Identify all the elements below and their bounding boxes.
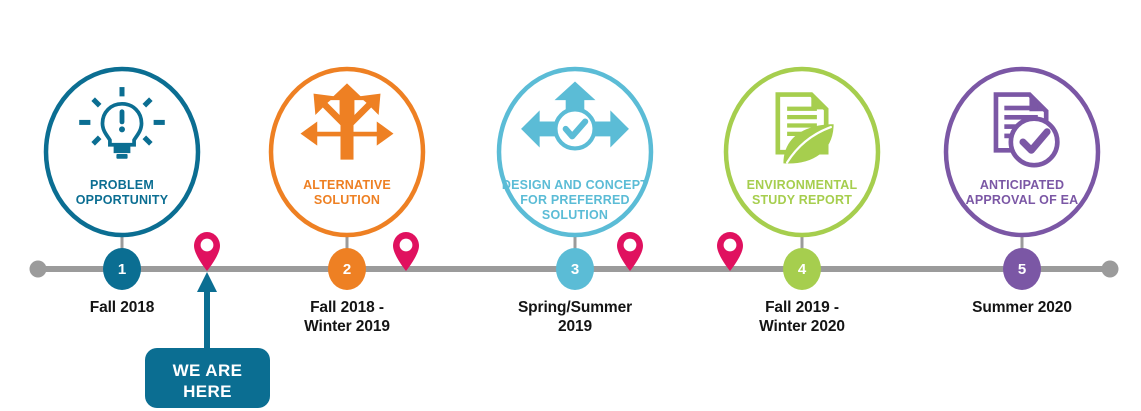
milestone-number-5: 5 [1002,262,1042,277]
consultation-pin-3[interactable] [617,232,643,271]
milestone-date-2: Fall 2018 -Winter 2019 [257,298,437,336]
consultation-pins-group [194,232,743,271]
we-are-here-label: WE ARE HERE [145,360,270,402]
milestone-date-5: Summer 2020 [932,298,1112,317]
milestone-label-line: APPROVAL OF EA [937,193,1107,208]
milestone-number-1: 1 [102,262,142,277]
consultation-pin-1[interactable] [194,232,220,271]
milestone-date-3: Spring/Summer2019 [485,298,665,336]
timeline-start-cap [30,261,47,278]
timeline-end-cap [1102,261,1119,278]
timeline-infographic: PROBLEMOPPORTUNITY1Fall 2018ALTERNATIVES… [0,0,1141,411]
milestone-date-line: Fall 2018 - [257,298,437,317]
milestone-date-line: Fall 2018 [32,298,212,317]
milestone-number-3: 3 [555,262,595,277]
milestone-label-line: STUDY REPORT [717,193,887,208]
milestone-label-line: ENVIRONMENTAL [717,178,887,193]
milestone-date-line: Summer 2020 [932,298,1112,317]
consultation-pin-4[interactable] [717,232,743,271]
we-are-here-arrow-head [197,272,217,292]
milestone-number-4: 4 [782,262,822,277]
we-are-here-line2: HERE [183,382,232,401]
milestone-label-2: ALTERNATIVESOLUTION [262,178,432,208]
we-are-here-line1: WE ARE [173,361,243,380]
milestone-label-line: SOLUTION [262,193,432,208]
milestone-label-3: DESIGN AND CONCEPTFOR PREFERREDSOLUTION [490,178,660,223]
milestone-label-4: ENVIRONMENTALSTUDY REPORT [717,178,887,208]
milestone-date-1: Fall 2018 [32,298,212,317]
milestone-label-line: FOR PREFERRED [490,193,660,208]
milestone-label-line: OPPORTUNITY [37,193,207,208]
milestone-date-line: 2019 [485,317,665,336]
milestone-date-4: Fall 2019 -Winter 2020 [712,298,892,336]
milestone-number-2: 2 [327,262,367,277]
milestone-label-line: PROBLEM [37,178,207,193]
milestone-date-line: Fall 2019 - [712,298,892,317]
milestone-date-line: Winter 2019 [257,317,437,336]
milestone-label-1: PROBLEMOPPORTUNITY [37,178,207,208]
milestone-date-line: Spring/Summer [485,298,665,317]
milestone-date-line: Winter 2020 [712,317,892,336]
milestone-label-5: ANTICIPATEDAPPROVAL OF EA [937,178,1107,208]
milestone-label-line: SOLUTION [490,208,660,223]
milestone-label-line: ANTICIPATED [937,178,1107,193]
consultation-pin-2[interactable] [393,232,419,271]
milestone-label-line: ALTERNATIVE [262,178,432,193]
milestone-label-line: DESIGN AND CONCEPT [490,178,660,193]
